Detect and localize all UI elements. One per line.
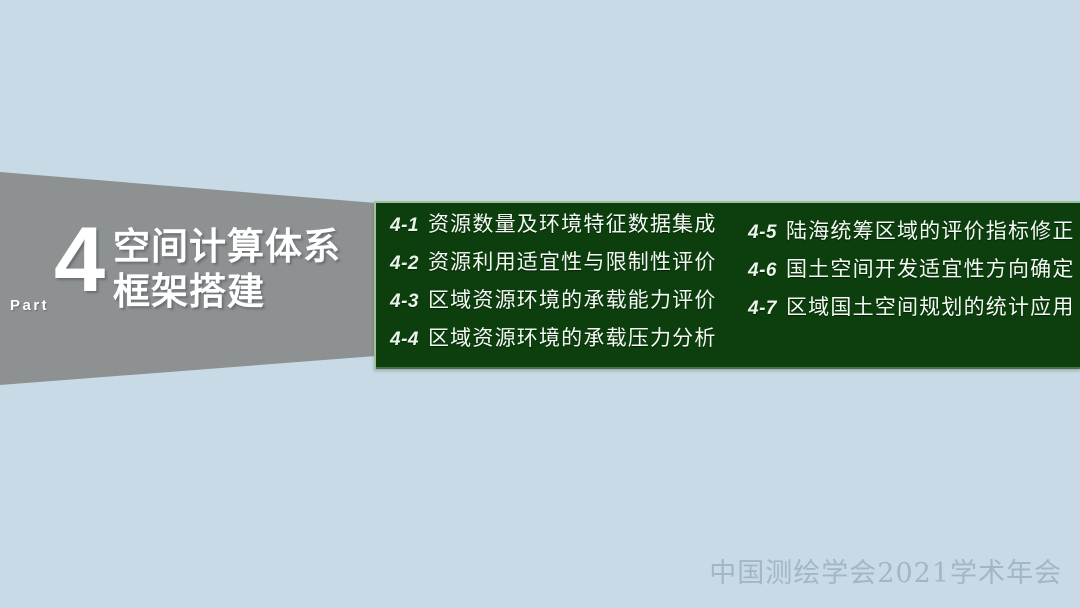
- part-marker: Part 4: [6, 226, 110, 316]
- agenda-item-number: 4-5: [748, 222, 777, 244]
- agenda-column-right: 4-5 陆海统筹区域的评价指标修正 4-6 国土空间开发适宜性方向确定 4-7 …: [748, 215, 1075, 329]
- agenda-item-4-1[interactable]: 4-1 资源数量及环境特征数据集成: [390, 208, 717, 242]
- agenda-item-label: 资源利用适宜性与限制性评价: [428, 246, 717, 276]
- agenda-item-4-5[interactable]: 4-5 陆海统筹区域的评价指标修正: [748, 215, 1075, 249]
- slide-canvas: Part 4 空间计算体系 框架搭建 4-1 资源数量及环境特征数据集成 4-2…: [0, 0, 1080, 608]
- part-label: Part: [10, 298, 49, 313]
- agenda-item-number: 4-1: [390, 215, 419, 237]
- agenda-item-4-7[interactable]: 4-7 区域国土空间规划的统计应用: [748, 291, 1075, 325]
- agenda-item-label: 区域国土空间规划的统计应用: [786, 291, 1075, 321]
- agenda-column-left: 4-1 资源数量及环境特征数据集成 4-2 资源利用适宜性与限制性评价 4-3 …: [390, 208, 717, 360]
- agenda-item-4-2[interactable]: 4-2 资源利用适宜性与限制性评价: [390, 246, 717, 280]
- agenda-item-label: 区域资源环境的承载压力分析: [428, 322, 717, 352]
- agenda-item-label: 陆海统筹区域的评价指标修正: [786, 215, 1075, 245]
- agenda-item-number: 4-6: [748, 260, 777, 282]
- agenda-item-number: 4-4: [390, 329, 419, 351]
- agenda-item-number: 4-7: [748, 298, 777, 320]
- page-title-line-1: 空间计算体系: [113, 224, 363, 269]
- agenda-item-4-6[interactable]: 4-6 国土空间开发适宜性方向确定: [748, 253, 1075, 287]
- agenda-panel: 4-1 资源数量及环境特征数据集成 4-2 资源利用适宜性与限制性评价 4-3 …: [374, 201, 1080, 369]
- agenda-item-number: 4-3: [390, 291, 419, 313]
- agenda-item-label: 资源数量及环境特征数据集成: [428, 208, 717, 238]
- agenda-item-4-4[interactable]: 4-4 区域资源环境的承载压力分析: [390, 322, 717, 356]
- agenda-item-label: 区域资源环境的承载能力评价: [428, 284, 717, 314]
- footer-watermark: 中国测绘学会2021学术年会: [709, 551, 1062, 590]
- page-title: 空间计算体系 框架搭建: [113, 224, 363, 314]
- agenda-item-number: 4-2: [390, 253, 419, 275]
- agenda-item-4-3[interactable]: 4-3 区域资源环境的承载能力评价: [390, 284, 717, 318]
- page-title-line-2: 框架搭建: [113, 269, 363, 314]
- agenda-item-label: 国土空间开发适宜性方向确定: [786, 253, 1075, 283]
- part-number: 4: [54, 214, 105, 306]
